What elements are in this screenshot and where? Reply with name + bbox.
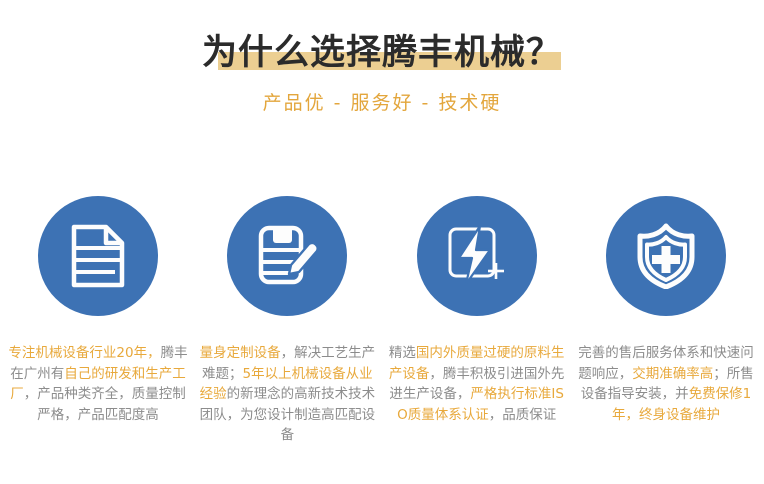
document-icon — [70, 224, 126, 288]
page-title: 为什么选择腾丰机械？ — [202, 36, 562, 71]
text-plain: ，品质保证 — [489, 407, 557, 423]
page-title-text: 为什么选择腾丰机械？ — [202, 33, 562, 73]
text-plain: ，产品种类齐全，质量控制严格，产品匹配度高 — [24, 386, 186, 423]
feature-description: 量身定制设备，解决工艺生产难题；5年以上机械设备从业经验的新理念的高新技术技术团… — [197, 343, 377, 446]
feature-icon-badge — [227, 196, 347, 316]
feature-list: 专注机械设备行业20年，腾丰在广州有自己的研发和生产工厂，产品种类齐全，质量控制… — [0, 196, 764, 446]
text-emphasis: 交期准确率高 — [632, 366, 713, 382]
banner-header: 为什么选择腾丰机械？ 产品优 - 服务好 - 技术硬 — [0, 0, 764, 115]
feature-item: 专注机械设备行业20年，腾丰在广州有自己的研发和生产工厂，产品种类齐全，质量控制… — [8, 196, 188, 446]
clipboard-pen-icon — [256, 224, 318, 288]
promo-banner: { "header": { "title": "为什么选择腾丰机械？", "su… — [0, 0, 764, 484]
feature-description: 完善的售后服务体系和快速问题响应，交期准确率高；所售设备指导安装，并免费保修1年… — [576, 343, 756, 425]
text-emphasis: 量身定制设备 — [200, 345, 281, 361]
feature-item: 完善的售后服务体系和快速问题响应，交期准确率高；所售设备指导安装，并免费保修1年… — [576, 196, 756, 446]
page-subtitle: 产品优 - 服务好 - 技术硬 — [0, 88, 764, 115]
feature-icon-badge — [417, 196, 537, 316]
feature-item: 量身定制设备，解决工艺生产难题；5年以上机械设备从业经验的新理念的高新技术技术团… — [197, 196, 377, 446]
feature-icon-badge — [38, 196, 158, 316]
lightning-plus-icon — [445, 224, 509, 288]
feature-description: 专注机械设备行业20年，腾丰在广州有自己的研发和生产工厂，产品种类齐全，质量控制… — [8, 343, 188, 425]
text-emphasis: 专注机械设备行业20年， — [8, 345, 160, 361]
text-plain: 的新理念的高新技术技术团队，为您设计制造高匹配设备 — [200, 386, 376, 443]
feature-item: 精选国内外质量过硬的原料生产设备，腾丰积极引进国外先进生产设备，严格执行标准IS… — [387, 196, 567, 446]
text-plain: 精选 — [389, 345, 416, 361]
shield-plus-icon — [635, 223, 697, 289]
feature-icon-badge — [606, 196, 726, 316]
feature-description: 精选国内外质量过硬的原料生产设备，腾丰积极引进国外先进生产设备，严格执行标准IS… — [387, 343, 567, 425]
